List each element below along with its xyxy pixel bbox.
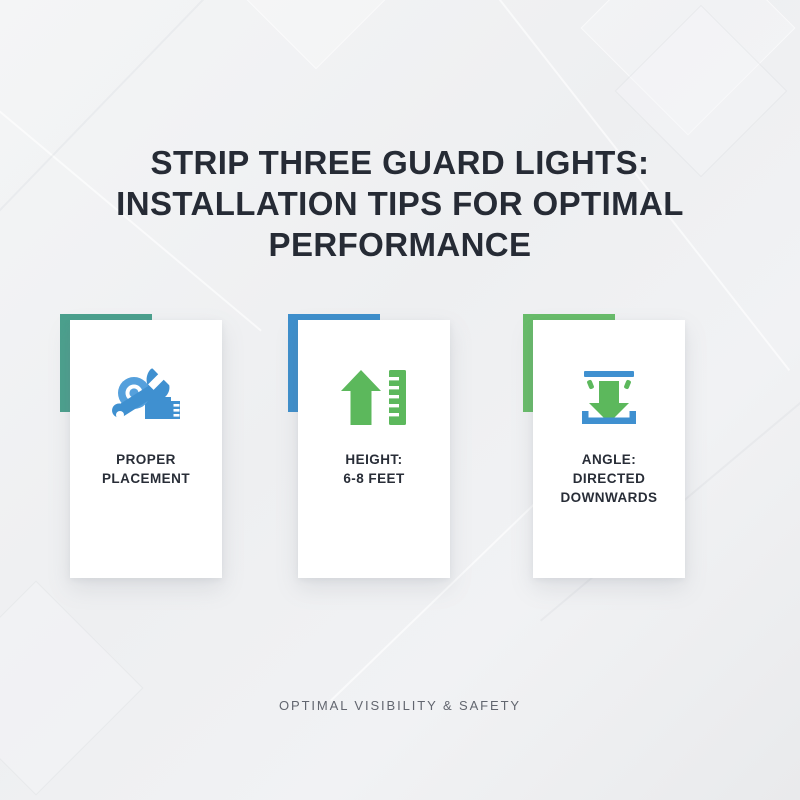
card-surface: PROPER PLACEMENT: [70, 320, 222, 578]
card-label: ANGLE: DIRECTED DOWNWARDS: [539, 450, 679, 507]
card-label-line-2: 6-8 FEET: [304, 469, 444, 488]
card-surface: HEIGHT: 6-8 FEET: [298, 320, 450, 578]
down-arrow-between-bars-icon: [533, 358, 685, 438]
card-label: PROPER PLACEMENT: [76, 450, 216, 488]
card-label-line-3: DOWNWARDS: [539, 488, 679, 507]
card-surface: ANGLE: DIRECTED DOWNWARDS: [533, 320, 685, 578]
up-arrow-ruler-icon: [298, 358, 450, 438]
card-label-line-1: HEIGHT:: [304, 450, 444, 469]
wrench-tape-measure-icon: [70, 358, 222, 438]
card-label: HEIGHT: 6-8 FEET: [304, 450, 444, 488]
title-line-1: STRIP THREE GUARD LIGHTS:: [70, 142, 730, 183]
card-label-line-1: ANGLE:: [539, 450, 679, 469]
card-label-line-2: PLACEMENT: [76, 469, 216, 488]
card-label-line-2: DIRECTED: [539, 469, 679, 488]
footer-tagline: OPTIMAL VISIBILITY & SAFETY: [0, 698, 800, 713]
title-line-3: PERFORMANCE: [70, 224, 730, 265]
card-label-line-1: PROPER: [76, 450, 216, 469]
title-line-2: INSTALLATION TIPS FOR OPTIMAL: [70, 183, 730, 224]
infographic-canvas: STRIP THREE GUARD LIGHTS: INSTALLATION T…: [0, 0, 800, 800]
page-title: STRIP THREE GUARD LIGHTS: INSTALLATION T…: [70, 142, 730, 265]
